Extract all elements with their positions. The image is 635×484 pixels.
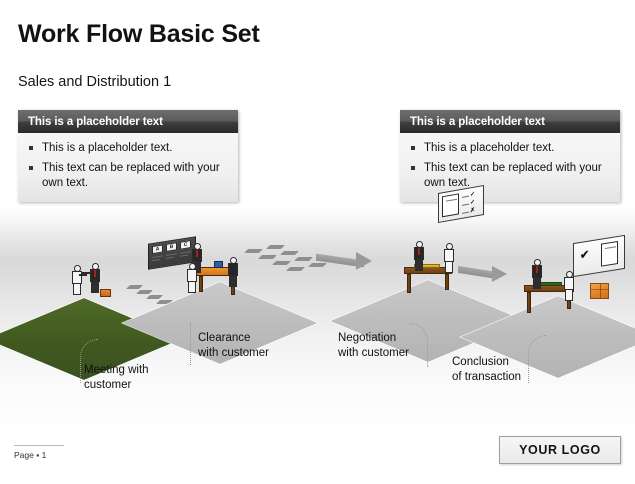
page-title: Work Flow Basic Set (18, 20, 260, 49)
checklist-mark-2: ✓ (470, 200, 475, 207)
step-label-4: Conclusion of transaction (452, 355, 521, 384)
figure-customer-3 (442, 243, 456, 277)
checklist-mark-3: ✗ (470, 208, 475, 215)
list-item: This is a placeholder text. (409, 141, 611, 156)
figure-agent-4 (530, 259, 544, 291)
placeholder-box-right[interactable]: This is a placeholder text This is a pla… (400, 110, 620, 202)
step-label-3: Negotiation with customer (338, 331, 409, 360)
contract-document-icon (601, 241, 618, 267)
placeholder-body-left: This is a placeholder text. This text ca… (18, 133, 238, 202)
leader-line-step-2 (190, 323, 191, 365)
step-label-1-line2: customer (84, 378, 149, 393)
step-label-1-line1: Meeting with (84, 363, 149, 378)
step-label-4-line2: of transaction (452, 370, 521, 385)
step-label-2-line1: Clearance (198, 331, 269, 346)
checklist-mark-1: ✓ (470, 192, 475, 199)
step-label-4-line1: Conclusion (452, 355, 521, 370)
placeholder-header-right: This is a placeholder text (400, 110, 620, 133)
placeholder-bullet-list-right: This is a placeholder text. This text ca… (409, 141, 611, 191)
figure-customer-2b (226, 257, 240, 287)
figure-customer-2a (185, 263, 199, 293)
list-item: This is a placeholder text. (27, 141, 229, 156)
placeholder-box-left[interactable]: This is a placeholder text This is a pla… (18, 110, 238, 202)
step-label-2-line2: with customer (198, 346, 269, 361)
footer-divider (14, 445, 64, 446)
slide-canvas: Work Flow Basic Set Sales and Distributi… (0, 0, 635, 484)
check-mark-icon: ✔ (580, 250, 589, 262)
figure-agent-3 (412, 241, 426, 273)
document-icon (442, 193, 459, 217)
step-label-2: Clearance with customer (198, 331, 269, 360)
step-label-1: Meeting with customer (84, 363, 149, 392)
logo-placeholder[interactable]: YOUR LOGO (499, 436, 621, 464)
package-box-icon (590, 283, 609, 299)
list-item: This text can be replaced with your own … (409, 161, 611, 191)
briefcase-icon (100, 289, 111, 297)
placeholder-bullet-list-left: This is a placeholder text. This text ca… (27, 141, 229, 191)
step-label-3-line1: Negotiation (338, 331, 409, 346)
step-label-3-line2: with customer (338, 346, 409, 361)
placeholder-body-right: This is a placeholder text. This text ca… (400, 133, 620, 202)
workflow-diagram: A B C (0, 205, 635, 395)
list-item: This text can be replaced with your own … (27, 161, 229, 191)
page-subtitle: Sales and Distribution 1 (18, 74, 171, 90)
figure-salesperson-1 (70, 265, 84, 295)
leader-line-step-4 (528, 335, 546, 383)
monitor-icon (214, 261, 223, 268)
page-number: Page ▪ 1 (14, 450, 46, 460)
placeholder-header-left: This is a placeholder text (18, 110, 238, 133)
